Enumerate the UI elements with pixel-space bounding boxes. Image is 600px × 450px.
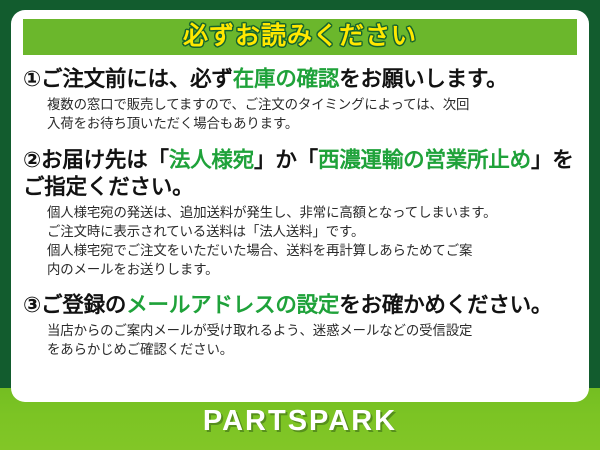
notice-item-2-marker: ② [23, 148, 41, 172]
notice-item-3-body-line-0: 当店からのご案内メールが受け取れるよう、迷惑メールなどの受信設定 [47, 321, 577, 340]
notice-item-3-body-line-1: をあらかじめご確認ください。 [47, 340, 577, 359]
notice-item-2-heading-part-2: 」か「 [254, 148, 318, 172]
notice-inner-panel: 必ずお読みください ①ご注文前には、必ず在庫の確認をお願いします。 複数の窓口で… [11, 10, 589, 402]
notice-item-1-heading-part-2: をお願いします。 [339, 67, 507, 91]
notice-item-2-body-line-0: 個人様宅宛の発送は、追加送料が発生し、非常に高額となってしまいます。 [47, 203, 577, 222]
notice-item-2-heading: ②お届け先は「法人様宛」か「西濃運輸の営業所止め」をご指定ください。 [23, 147, 577, 199]
notice-item-2-body-line-2: 個人様宅宛でご注文をいただいた場合、送料を再計算しあらためてご案 [47, 241, 577, 260]
notice-items-list: ①ご注文前には、必ず在庫の確認をお願いします。 複数の窓口で販売してますので、ご… [21, 66, 579, 359]
notice-item-3-heading-part-0: ご登録の [41, 293, 126, 317]
notice-item-2-body: 個人様宅宛の発送は、追加送料が発生し、非常に高額となってしまいます。 ご注文時に… [23, 203, 577, 279]
notice-item-1-heading: ①ご注文前には、必ず在庫の確認をお願いします。 [23, 66, 577, 92]
notice-card: PARTSPARK 必ずお読みください ①ご注文前には、必ず在庫の確認をお願いし… [0, 0, 600, 450]
notice-item-3-heading: ③ご登録のメールアドレスの設定をお確かめください。 [23, 292, 577, 318]
notice-item-1-body: 複数の窓口で販売してますので、ご注文のタイミングによっては、次回 入荷をお待ち頂… [23, 95, 577, 133]
title-banner: 必ずお読みください [23, 19, 577, 55]
notice-item-1: ①ご注文前には、必ず在庫の確認をお願いします。 複数の窓口で販売してますので、ご… [23, 66, 577, 133]
notice-item-3-marker: ③ [23, 293, 41, 317]
notice-item-1-body-line-0: 複数の窓口で販売してますので、ご注文のタイミングによっては、次回 [47, 95, 577, 114]
notice-item-2-heading-highlight-1: 法人様宛 [169, 148, 254, 172]
notice-item-3-heading-part-2: をお確かめください。 [339, 293, 552, 317]
notice-item-2: ②お届け先は「法人様宛」か「西濃運輸の営業所止め」をご指定ください。 個人様宅宛… [23, 147, 577, 279]
notice-item-1-body-line-1: 入荷をお待ち頂いただく場合もあります。 [47, 114, 577, 133]
notice-item-3-heading-highlight: メールアドレスの設定 [126, 293, 339, 317]
notice-item-3-body: 当店からのご案内メールが受け取れるよう、迷惑メールなどの受信設定 をあらかじめご… [23, 321, 577, 359]
notice-item-1-heading-highlight: 在庫の確認 [233, 67, 340, 91]
notice-item-2-body-line-1: ご注文時に表示されている送料は「法人送料」です。 [47, 222, 577, 241]
page-title: 必ずお読みください [183, 24, 417, 51]
notice-item-2-heading-highlight-2: 西濃運輸の営業所止め [318, 148, 531, 172]
notice-item-2-heading-part-4: 」 [531, 148, 552, 172]
brand-wordmark: PARTSPARK [203, 403, 397, 436]
notice-item-2-heading-part-0: お届け先は「 [41, 148, 169, 172]
notice-item-1-heading-part-0: ご注文前には、必ず [41, 67, 233, 91]
notice-item-1-marker: ① [23, 67, 41, 91]
notice-item-3: ③ご登録のメールアドレスの設定をお確かめください。 当店からのご案内メールが受け… [23, 292, 577, 359]
notice-item-2-body-line-3: 内のメールをお送りします。 [47, 260, 577, 279]
